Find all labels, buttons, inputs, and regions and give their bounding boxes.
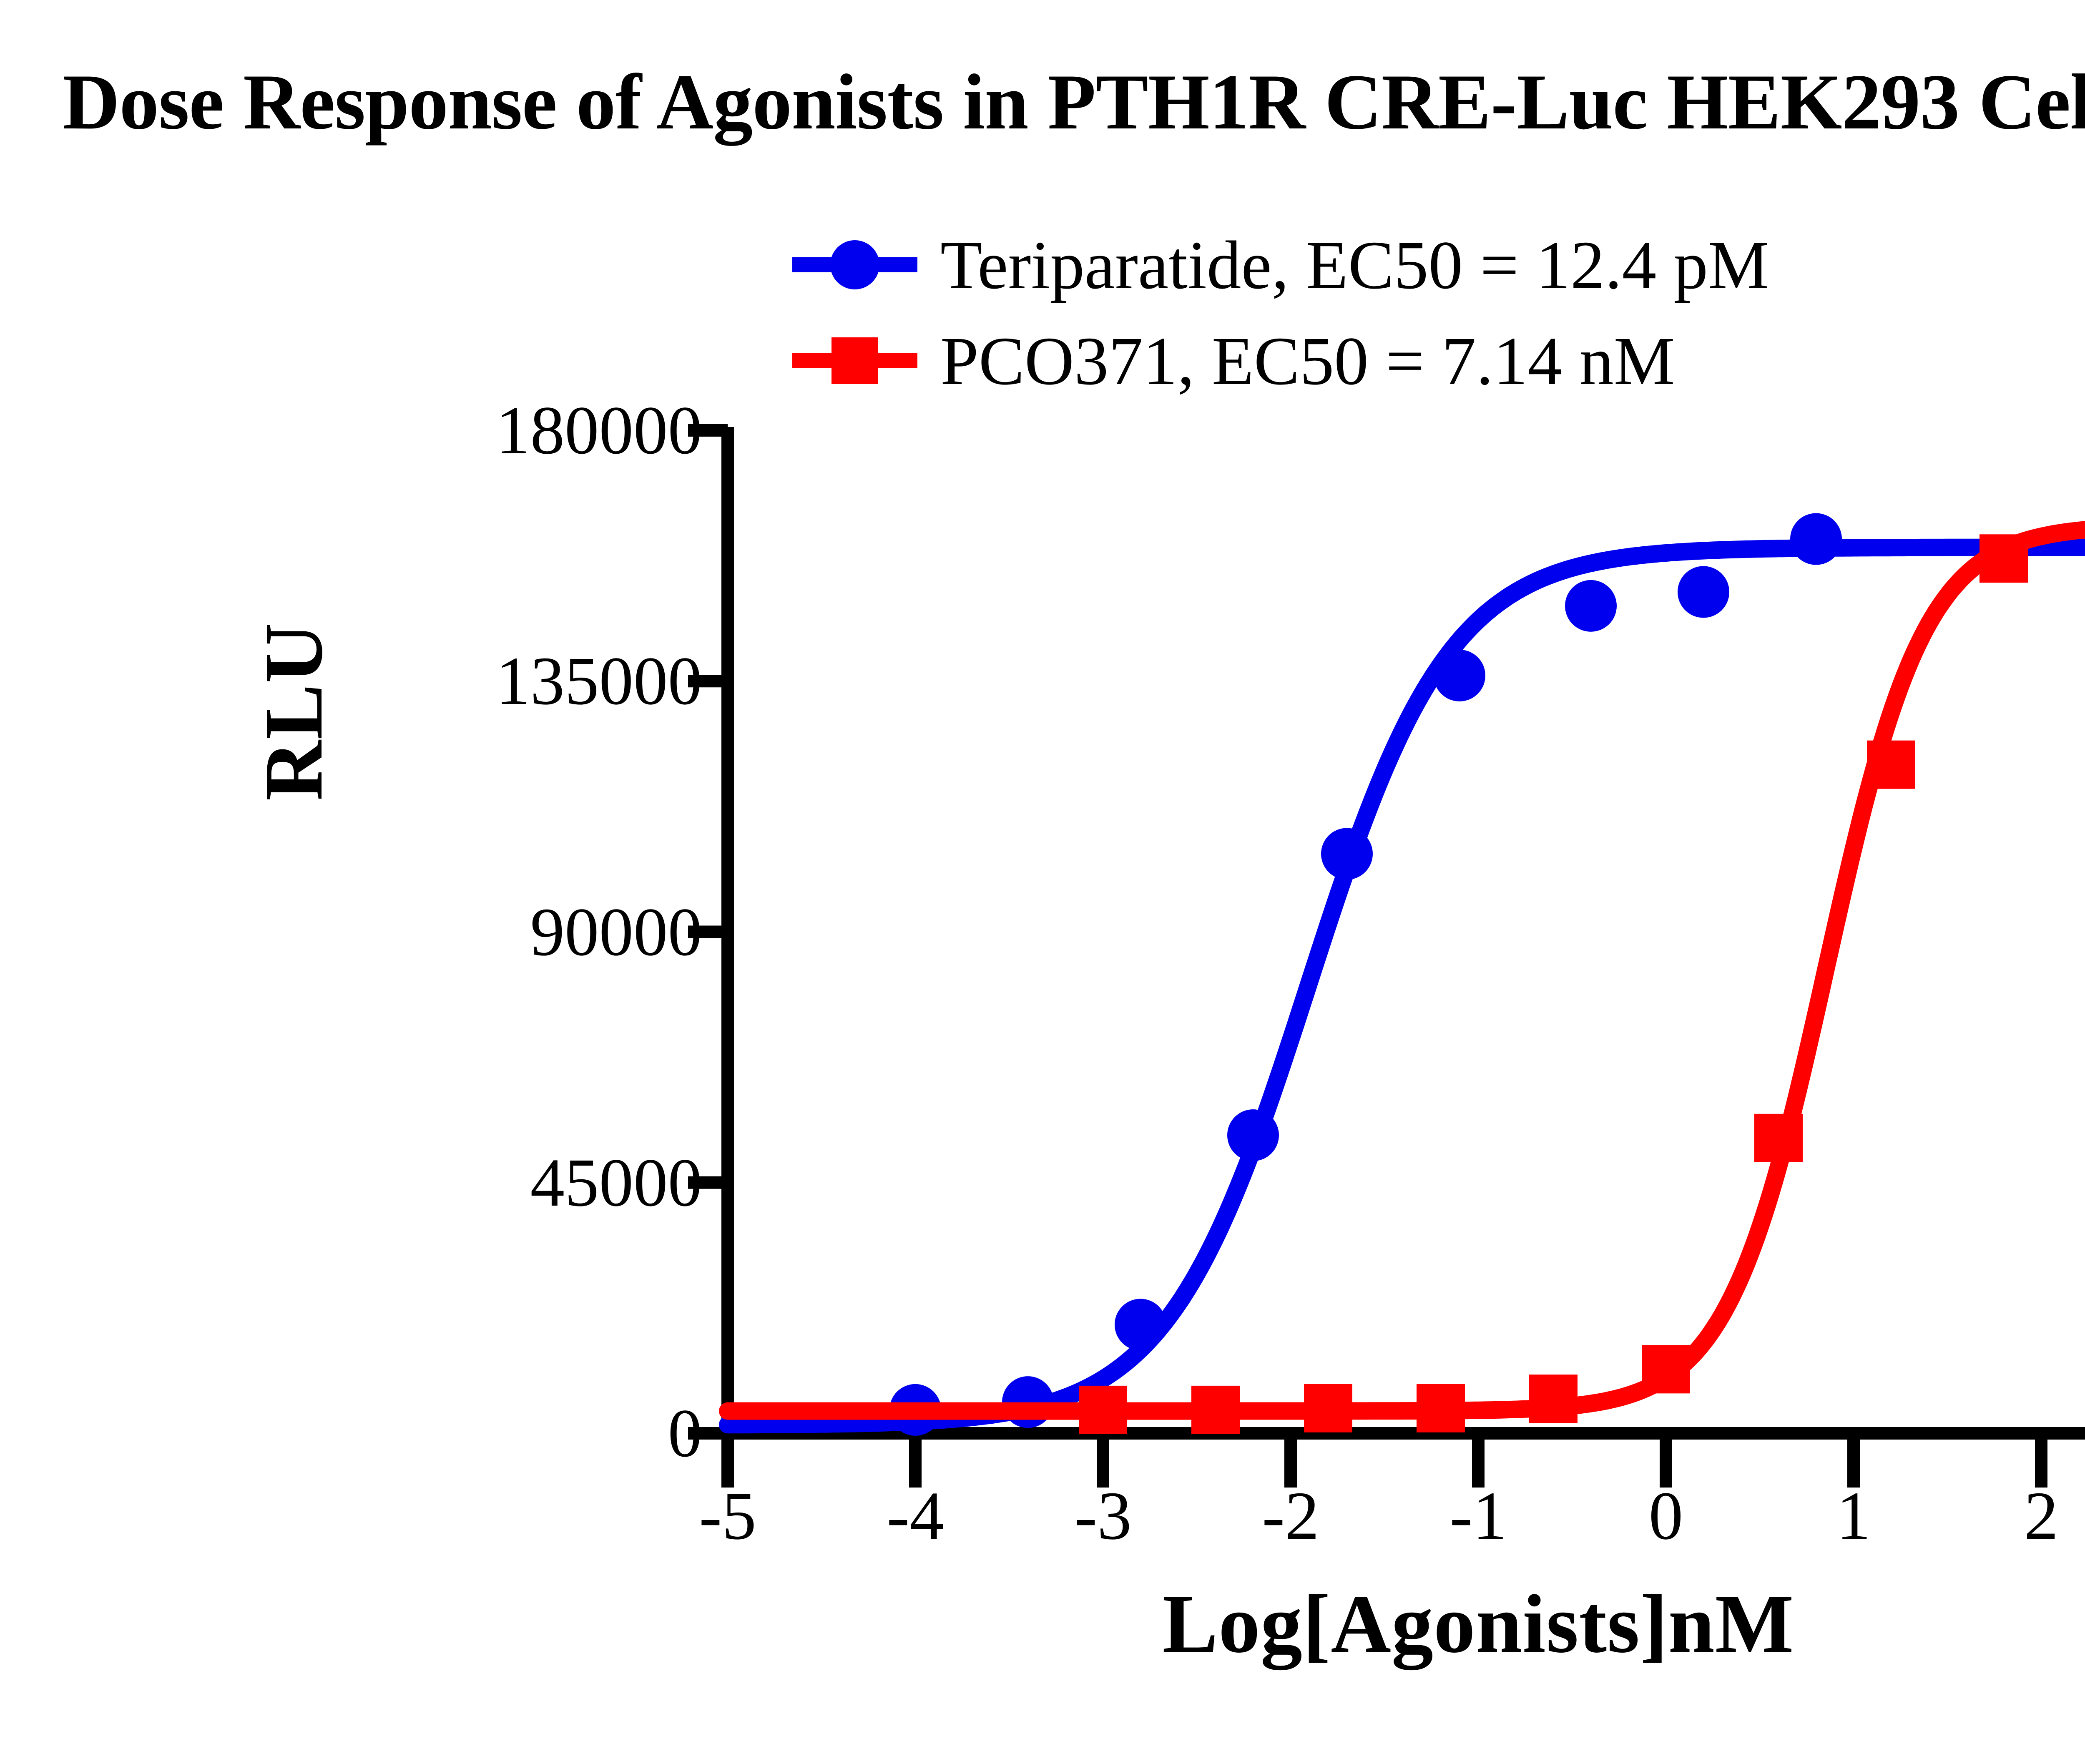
data-point-marker (1867, 741, 1915, 789)
data-point-marker (1678, 566, 1729, 618)
data-point-marker (1790, 513, 1842, 565)
data-point-marker (1002, 1376, 1054, 1428)
data-point-marker (1191, 1386, 1240, 1434)
data-point-marker (1434, 650, 1485, 701)
series-curve-2 (728, 525, 2085, 1411)
data-point-marker (1642, 1345, 1690, 1393)
chart-figure: Dose Response of Agonists in PTH1R CRE-L… (0, 0, 2085, 1764)
data-point-marker (1979, 534, 2028, 583)
data-point-marker (1304, 1384, 1352, 1432)
series-curve-1 (728, 548, 2085, 1425)
data-point-marker (1227, 1109, 1279, 1161)
data-point-marker (1079, 1386, 1127, 1434)
data-point-marker (1754, 1114, 1803, 1162)
data-point-marker (1417, 1384, 1465, 1432)
data-point-marker (1115, 1299, 1166, 1350)
plot-area: RLU Log[Agonists]nM 04500090000135000180… (0, 0, 2085, 1764)
plot-svg (0, 0, 2085, 1764)
data-point-marker (1321, 828, 1373, 879)
data-point-marker (1565, 580, 1617, 632)
series-layer (728, 513, 2085, 1436)
data-point-marker (1529, 1375, 1578, 1423)
axis-lines (688, 427, 2085, 1488)
